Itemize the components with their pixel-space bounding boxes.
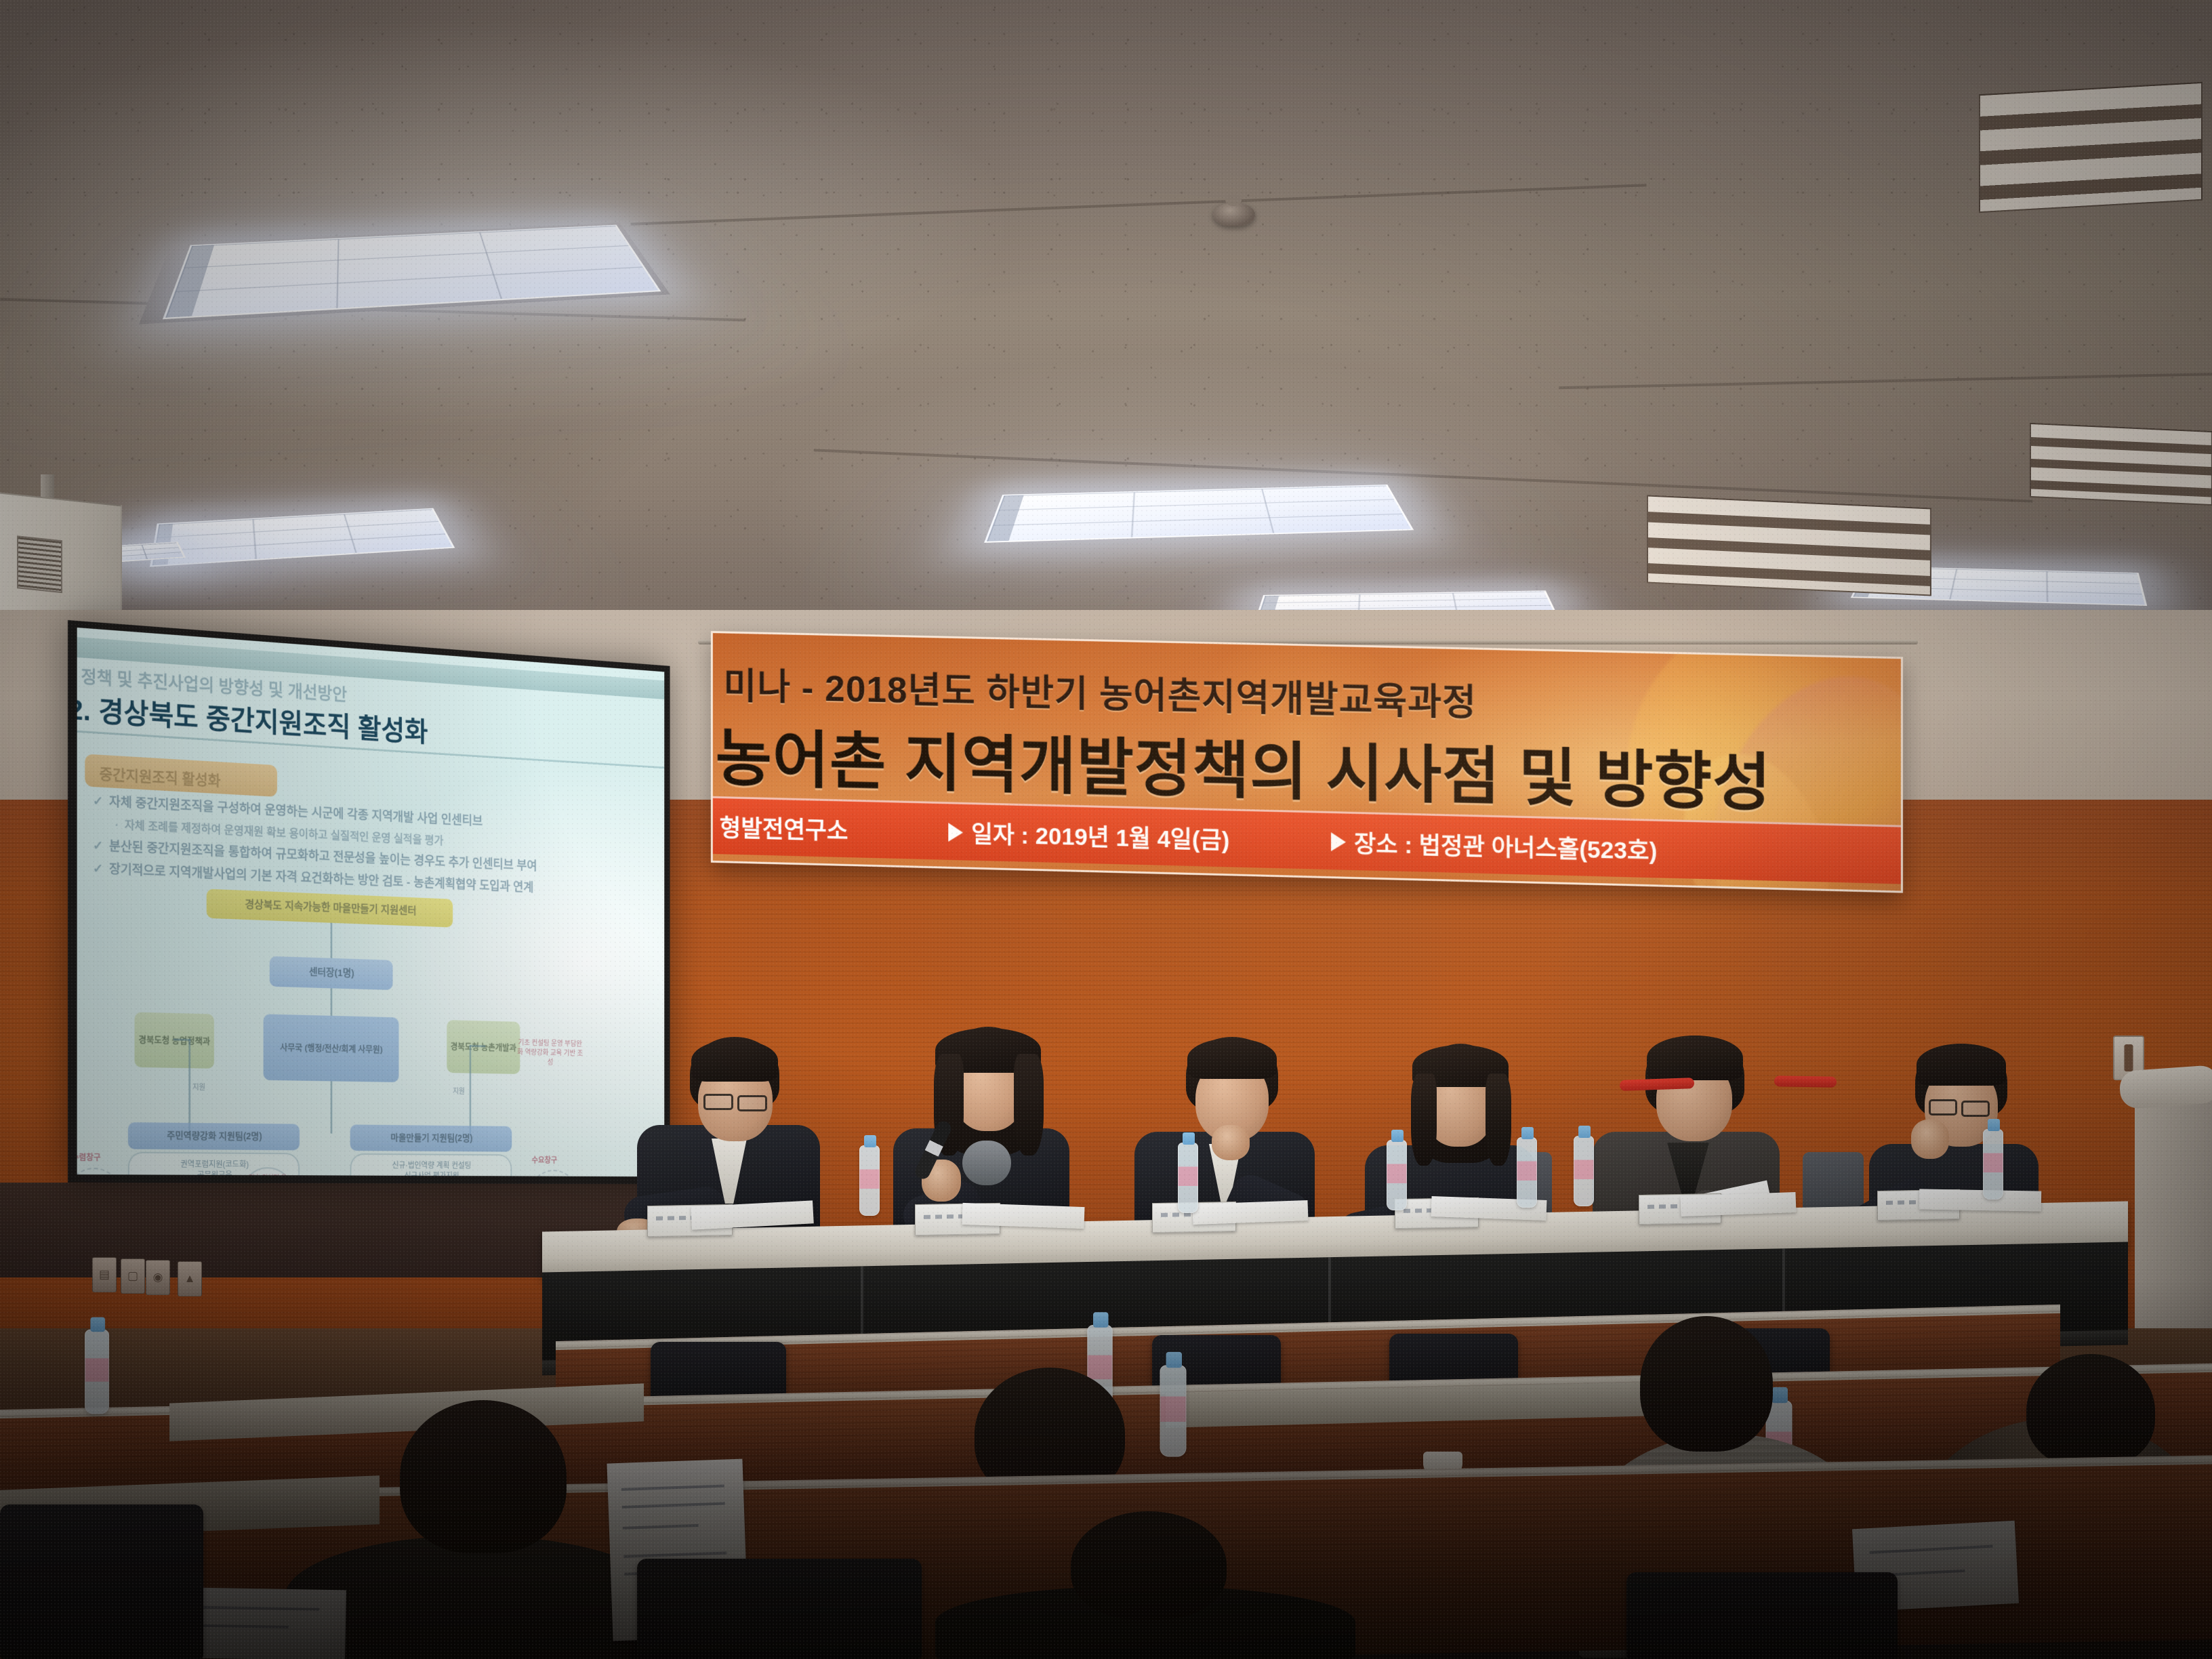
diagram-left-branch-box: 주민역량강화 지원팀(2명) [128, 1122, 300, 1150]
diagram-task-item: 신규사업 평가지원 [355, 1170, 507, 1176]
projection-screen: 정책 및 추진사업의 방향성 및 개선방안 2. 경상북도 중간지원조직 활성화… [68, 620, 670, 1184]
diagram-connector [188, 1039, 190, 1132]
lectern-podium-top [2118, 1065, 2212, 1109]
panelist-hand [1911, 1120, 1949, 1159]
diagram-left-oval: 시군 현장 요구 수렴 [77, 1168, 131, 1176]
wall-outlet-plate[interactable]: ◉ [146, 1260, 170, 1295]
banner-date-group: 일자 : 2019년 1월 4일(금) [948, 815, 1229, 856]
panelist-hair [1014, 1054, 1044, 1155]
panelist-hair [1486, 1073, 1511, 1166]
diagram-connector-label: 지원 [453, 1086, 465, 1096]
diagram-center-box: 사무국 (행정/전산/회계 사무원) [264, 1014, 399, 1082]
seminar-photo-scene: ▤ ▢ ◉ ▲ 정책 및 추진사업의 방향성 및 개선방안 2. 경상북도 중간… [0, 0, 2212, 1659]
panelist-glasses [1961, 1101, 1990, 1117]
switch-glyph-icon: ▤ [99, 1268, 110, 1282]
presentation-slide: 정책 및 추진사업의 방향성 및 개선방안 2. 경상북도 중간지원조직 활성화… [77, 628, 665, 1176]
diagram-annotation: 기초 컨설팅 운영 부담완화 역량강화 교육 기반 조성 [515, 1038, 585, 1068]
projector-vent-grill [17, 535, 62, 593]
vent-slats [1648, 497, 1930, 595]
audience-head [1071, 1511, 1227, 1620]
diagram-connector [331, 1081, 333, 1133]
panelist-hair [1187, 1038, 1277, 1079]
handout-text-line [623, 1552, 726, 1558]
paper-stack[interactable] [962, 1203, 1084, 1229]
audience-head [1640, 1316, 1773, 1452]
water-bottle[interactable] [1387, 1140, 1407, 1210]
diagram-right-oval-caption: 수요창구 [532, 1155, 558, 1166]
hvac-vent [1979, 82, 2203, 213]
paper-stack[interactable] [1919, 1189, 2041, 1211]
handout-text-line [623, 1524, 699, 1530]
diagram-connector [173, 1038, 191, 1041]
audience-head [400, 1400, 567, 1553]
diagram-left-oval-caption: 수렴창구 [77, 1151, 101, 1163]
wall-switch-plate[interactable]: ▤ [92, 1257, 117, 1292]
panelist-hair [1411, 1073, 1437, 1166]
check-icon: ✓ [93, 839, 103, 854]
switch-glyph-icon: ▢ [127, 1269, 138, 1283]
check-icon: ✓ [93, 794, 103, 809]
outlet-glyph-icon: ▲ [184, 1272, 196, 1286]
slide-org-diagram: 경상북도 지속가능한 마을만들기 지원센터 센터장(1명) 사무국 (행정/전산… [77, 884, 665, 1177]
hvac-vent [1647, 495, 1931, 596]
water-bottle[interactable] [1983, 1129, 2003, 1200]
vent-slats [1980, 83, 2201, 211]
water-bottle[interactable] [85, 1330, 109, 1414]
smoke-detector-icon [1213, 203, 1255, 226]
panelist-hair [1917, 1044, 2006, 1086]
diagram-top-box: 센터장(1명) [270, 956, 393, 990]
diagram-right-task-panel: 신규·법인역량 계획 컨설팅 신규사업 평가지원 희망지구 현장 컨설팅 협약지… [350, 1153, 512, 1176]
slide-section-pill: 중간지원조직 활성화 [85, 754, 277, 796]
audience-chair[interactable] [637, 1559, 922, 1659]
audience-head [2026, 1354, 2155, 1468]
handout-text-line [1870, 1545, 1993, 1555]
paper-stack[interactable] [1681, 1192, 1797, 1216]
diagram-task-item: 신규·법인역량 계획 컨설팅 [355, 1160, 507, 1171]
wall-outlet-plate[interactable]: ▲ [178, 1261, 202, 1296]
diagram-connector-label: 지원 [192, 1082, 205, 1092]
diagram-connector [470, 1045, 472, 1135]
paper-stack[interactable] [1193, 1200, 1309, 1225]
panelist-glasses [703, 1094, 733, 1110]
audience-chair[interactable] [0, 1504, 203, 1659]
panelist-glasses [737, 1095, 767, 1111]
vent-slats [2031, 424, 2211, 504]
wall-switch-plate[interactable]: ▢ [121, 1258, 145, 1294]
panelist-scarf [962, 1141, 1011, 1185]
panelist-hair [1647, 1036, 1743, 1080]
red-marker-pen[interactable] [1774, 1076, 1837, 1088]
check-icon: ✓ [93, 861, 103, 876]
diagram-connector [331, 988, 333, 1016]
water-bottle[interactable] [1178, 1143, 1198, 1213]
diagram-connector [331, 923, 333, 958]
audience-chair[interactable] [1626, 1572, 1898, 1659]
audience-member [935, 1511, 1355, 1659]
triangle-right-icon [1331, 832, 1346, 852]
hvac-vent [2030, 423, 2212, 506]
handout-text-line [622, 1502, 725, 1508]
panelist-hand [1212, 1125, 1250, 1160]
outlet-glyph-icon: ◉ [153, 1271, 163, 1284]
triangle-right-icon [948, 823, 963, 842]
water-bottle[interactable] [1517, 1137, 1537, 1208]
handout-text-line [621, 1484, 724, 1490]
dot-icon: · [115, 818, 119, 831]
diagram-right-oval: 시군 역량강화 지원 [521, 1170, 586, 1176]
banner-place-label: 장소 : 법정관 아너스홀(523호) [1354, 825, 1657, 867]
banner-place-group: 장소 : 법정관 아너스홀(523호) [1331, 824, 1657, 867]
diagram-right-branch-box: 마을만들기 지원팀(2명) [350, 1124, 512, 1151]
water-bottle[interactable] [859, 1145, 880, 1216]
water-bottle[interactable] [1574, 1136, 1594, 1206]
ceiling [0, 0, 2212, 664]
event-banner: 미나 - 2018년도 하반기 농어촌지역개발교육과정 농어촌 지역개발정책의 … [711, 631, 1903, 893]
slide-section-pill-label: 중간지원조직 활성화 [100, 762, 221, 791]
panelist-hair [691, 1040, 778, 1082]
diagram-connector [470, 1045, 486, 1047]
banner-organizer: 형발전연구소 [713, 809, 848, 847]
banner-date-label: 일자 : 2019년 1월 4일(금) [971, 815, 1229, 856]
panelist-glasses [1929, 1099, 1957, 1115]
